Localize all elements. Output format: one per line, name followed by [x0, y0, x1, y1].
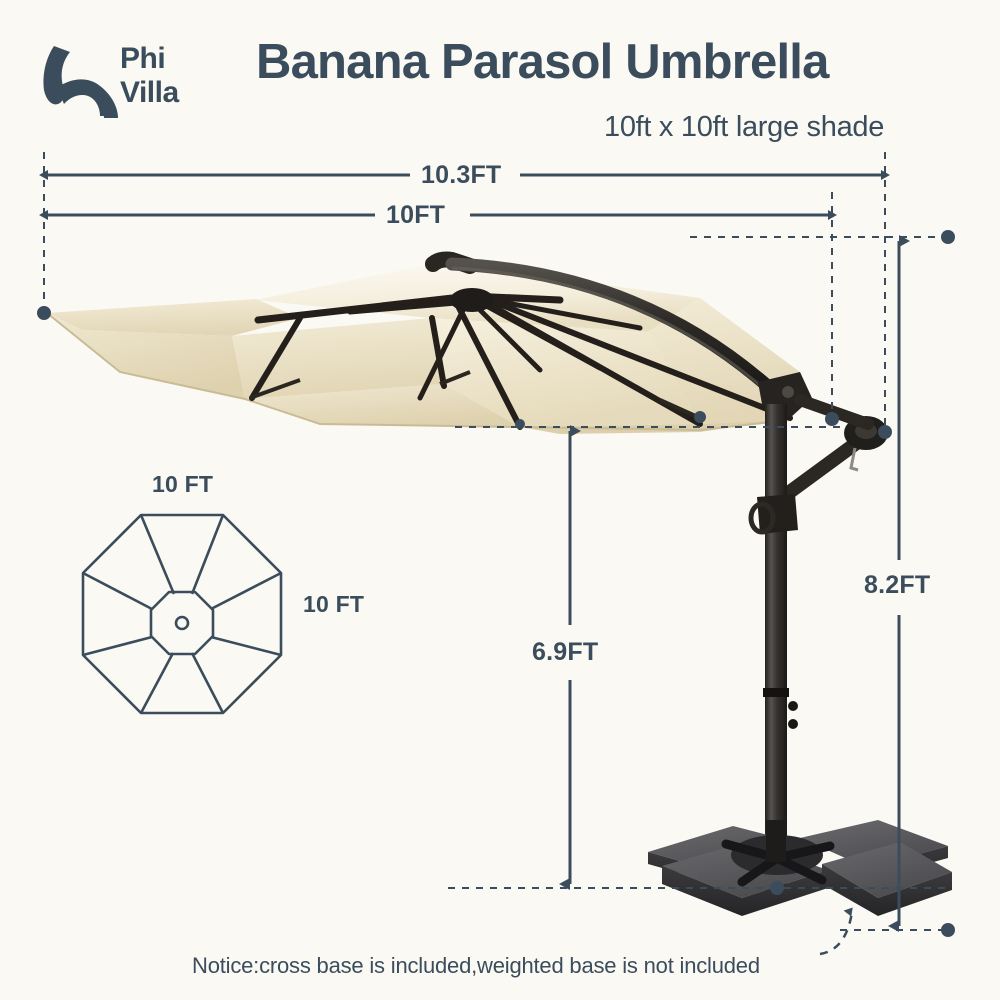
octagon-rib-3 — [211, 573, 281, 609]
dimension-label-height-total: 8.2FT — [864, 573, 930, 598]
pole-collar — [757, 494, 798, 534]
octagon-hub — [151, 592, 213, 654]
dimension-label-width-inner: 10FT — [386, 203, 445, 228]
brand-name-line2: Villa — [120, 78, 179, 108]
arm-joint-bolt — [782, 386, 794, 398]
pole-knob-lower — [788, 719, 798, 729]
octagon-rib-1 — [141, 515, 174, 594]
dot-canopy-right-outer — [878, 425, 892, 439]
dot-ground — [941, 923, 955, 937]
product-illustration — [47, 260, 952, 917]
dot-canopy-left-tip — [37, 306, 51, 320]
page-subtitle: 10ft x 10ft large shade — [604, 113, 884, 142]
octagon-rib-8 — [83, 573, 152, 609]
pole-joint-ring — [763, 688, 789, 697]
dot-top-height — [941, 230, 955, 244]
pole-knob-upper — [788, 701, 798, 711]
octagon-label-side: 10 FT — [303, 593, 364, 616]
dot-canopy-edge-marker — [694, 411, 706, 423]
notice-text: Notice:cross base is included,weighted b… — [192, 955, 760, 977]
notice-leader — [820, 912, 852, 954]
octagon-outline — [83, 515, 281, 713]
brand-name-line1: Phi — [120, 44, 165, 74]
octagon-rib-6 — [141, 653, 173, 713]
octagon-top-view — [83, 515, 281, 713]
dimension-label-width-outer: 10.3FT — [421, 163, 501, 188]
octagon-label-top: 10 FT — [152, 473, 213, 496]
dot-canopy-right-inner — [825, 412, 839, 426]
diagram-canvas — [0, 0, 1000, 1000]
phi-villa-h-mark-icon — [43, 46, 118, 118]
octagon-rib-4 — [211, 637, 281, 655]
dimension-label-height-canopy: 6.9FT — [532, 640, 598, 665]
octagon-rib-2 — [192, 515, 223, 594]
dot-base-contact — [770, 881, 784, 895]
umbrella-base — [648, 820, 952, 916]
base-pole-socket — [766, 820, 786, 862]
canopy-hub — [450, 288, 494, 312]
umbrella-canopy — [47, 262, 800, 434]
octagon-center-hole — [176, 617, 188, 629]
octagon-rib-5 — [192, 653, 223, 713]
page-title: Banana Parasol Umbrella — [256, 38, 829, 87]
octagon-rib-7 — [83, 637, 152, 655]
product-dimension-diagram: Phi Villa Banana Parasol Umbrella 10ft x… — [0, 0, 1000, 1000]
notice-leader-line — [820, 912, 852, 954]
dot-canopy-edge-marker-2 — [515, 419, 525, 429]
